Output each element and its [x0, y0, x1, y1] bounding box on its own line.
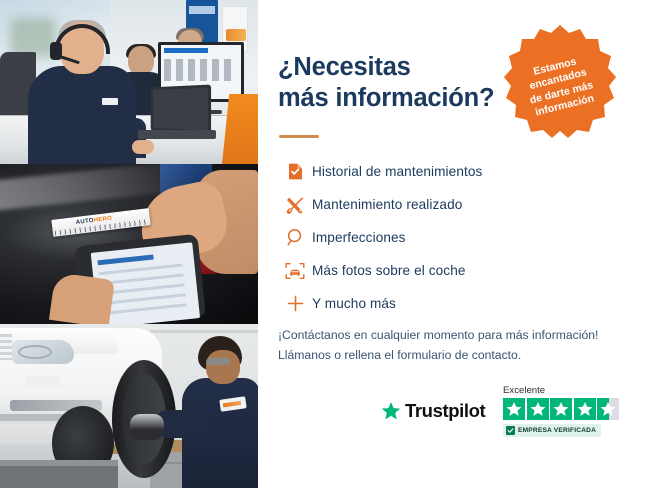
- wrench-screwdriver-icon: [278, 195, 312, 214]
- star-box-2: [527, 398, 549, 420]
- feature-item-much-more: Y mucho más: [278, 287, 628, 320]
- car-inspection-ruler-photo: AUTOHERO: [0, 164, 258, 324]
- trustpilot-rating[interactable]: Excelente: [503, 385, 631, 439]
- car-photo-frame-icon: [278, 262, 312, 280]
- trustpilot-logo[interactable]: Trustpilot: [381, 400, 485, 422]
- plus-icon: [278, 294, 312, 313]
- car-lift-ramp: [0, 466, 118, 488]
- feature-label: Historial de mantenimientos: [312, 164, 482, 179]
- contact-line-1: ¡Contáctanos en cualquier momento para m…: [278, 328, 598, 342]
- title-underline-divider: [279, 135, 319, 138]
- promo-card: AUTOHERO: [0, 0, 650, 488]
- mechanic-wheel-inspection-photo: [0, 324, 258, 488]
- star-box-4: [574, 398, 596, 420]
- contact-paragraph: ¡Contáctanos en cualquier momento para m…: [278, 326, 634, 366]
- contact-line-2: Llámanos o rellena el formulario de cont…: [278, 348, 521, 362]
- rating-label: Excelente: [503, 385, 631, 396]
- work-glove: [130, 414, 164, 440]
- feature-label: Imperfecciones: [312, 230, 406, 245]
- feature-item-maintenance-history: Historial de mantenimientos: [278, 155, 628, 188]
- feature-list: Historial de mantenimientos Mantenimient…: [278, 155, 628, 320]
- trustpilot-star-icon: [381, 401, 401, 421]
- info-badge: Estamos encantados de darte más informac…: [501, 22, 619, 140]
- ruler-logo-hero: HERO: [93, 216, 112, 224]
- feature-item-imperfections: Imperfecciones: [278, 221, 628, 254]
- page-title: ¿Necesitas más información?: [278, 52, 518, 113]
- trustpilot-block[interactable]: Trustpilot Excelente: [381, 385, 631, 445]
- agent-with-headset: [24, 22, 134, 164]
- check-box-icon: [506, 426, 515, 435]
- feature-label: Y mucho más: [312, 296, 396, 311]
- call-center-agent-photo: [0, 0, 258, 164]
- feature-item-maintenance-done: Mantenimiento realizado: [278, 188, 628, 221]
- content-column: ¿Necesitas más información? Estamos enca…: [258, 0, 650, 488]
- feature-item-more-photos: Más fotos sobre el coche: [278, 254, 628, 287]
- page-title-line-1: ¿Necesitas: [278, 53, 411, 81]
- star-box-3: [550, 398, 572, 420]
- feature-label: Mantenimiento realizado: [312, 197, 462, 212]
- trustpilot-wordmark: Trustpilot: [405, 400, 485, 422]
- photo-column: AUTOHERO: [0, 0, 258, 488]
- workshop-wall-line: [150, 330, 258, 333]
- mechanic: [176, 336, 258, 488]
- feature-label: Más fotos sobre el coche: [312, 263, 466, 278]
- safety-glasses: [206, 358, 230, 365]
- verified-badge: EMPRESA VERIFICADA: [503, 424, 601, 437]
- star-box-5-half: [597, 398, 619, 420]
- ruler-logo-auto: AUTO: [76, 218, 95, 226]
- checklist-document-icon: [278, 162, 312, 181]
- verified-label: EMPRESA VERIFICADA: [518, 427, 596, 434]
- star-rating: [503, 398, 631, 420]
- star-box-1: [503, 398, 525, 420]
- hand-holding-tablet: [49, 272, 115, 324]
- magnifier-icon: [278, 228, 312, 247]
- laptop: [138, 86, 216, 142]
- page-title-line-2: más información?: [278, 84, 494, 112]
